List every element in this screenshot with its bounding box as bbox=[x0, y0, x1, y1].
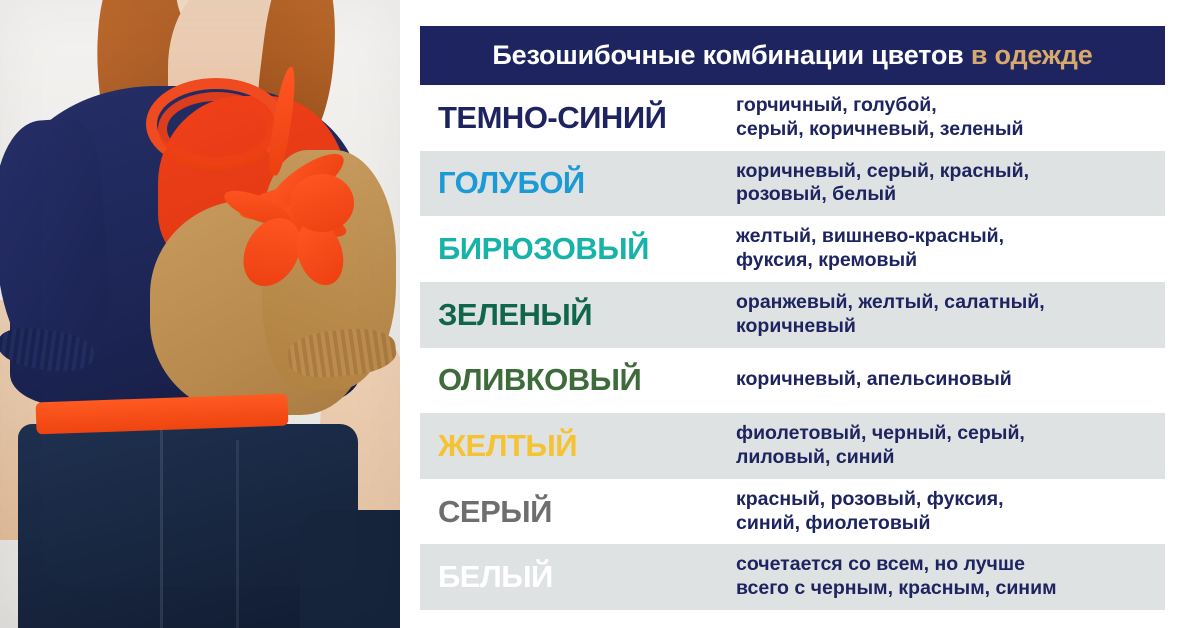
match-line: лиловый, синий bbox=[736, 446, 1157, 470]
color-name-4: ЗЕЛЕНЫЙ bbox=[420, 297, 736, 333]
color-matches-4: оранжевый, желтый, салатный,коричневый bbox=[736, 291, 1165, 339]
color-matches-7: красный, розовый, фуксия,синий, фиолетов… bbox=[736, 488, 1165, 536]
content-panel: Безошибочные комбинации цветов в одежде … bbox=[400, 0, 1200, 628]
match-line: фиолетовый, черный, серый, bbox=[736, 422, 1157, 446]
color-name-1: ТЕМНО-СИНИЙ bbox=[420, 100, 736, 136]
match-line: розовый, белый bbox=[736, 183, 1157, 207]
match-line: желтый, вишнево-красный, bbox=[736, 225, 1157, 249]
page-title-main: Безошибочные комбинации цветов bbox=[492, 40, 963, 70]
page-title: Безошибочные комбинации цветов в одежде bbox=[492, 40, 1092, 71]
header-bar: Безошибочные комбинации цветов в одежде bbox=[420, 26, 1165, 85]
table-row: СЕРЫЙкрасный, розовый, фуксия,синий, фио… bbox=[420, 479, 1165, 545]
color-matches-5: коричневый, апельсиновый bbox=[736, 368, 1165, 392]
color-name-3: БИРЮЗОВЫЙ bbox=[420, 231, 736, 267]
match-line: горчичный, голубой, bbox=[736, 94, 1157, 118]
model-photo bbox=[0, 0, 400, 628]
color-name-8: БЕЛЫЙ bbox=[420, 559, 736, 595]
color-name-7: СЕРЫЙ bbox=[420, 494, 736, 530]
table-row: ТЕМНО-СИНИЙгорчичный, голубой,серый, кор… bbox=[420, 85, 1165, 151]
match-line: фуксия, кремовый bbox=[736, 249, 1157, 273]
color-matches-8: сочетается со всем, но лучшевсего с черн… bbox=[736, 553, 1165, 601]
color-matches-1: горчичный, голубой,серый, коричневый, зе… bbox=[736, 94, 1165, 142]
match-line: сочетается со всем, но лучше bbox=[736, 553, 1157, 577]
match-line: коричневый bbox=[736, 315, 1157, 339]
table-row: БЕЛЫЙсочетается со всем, но лучшевсего с… bbox=[420, 544, 1165, 610]
match-line: оранжевый, желтый, салатный, bbox=[736, 291, 1157, 315]
color-matches-6: фиолетовый, черный, серый,лиловый, синий bbox=[736, 422, 1165, 470]
match-line: всего с черным, красным, синим bbox=[736, 577, 1157, 601]
color-name-2: ГОЛУБОЙ bbox=[420, 165, 736, 201]
table-row: ЖЕЛТЫЙфиолетовый, черный, серый,лиловый,… bbox=[420, 413, 1165, 479]
color-name-5: ОЛИВКОВЫЙ bbox=[420, 362, 736, 398]
photo-vignette bbox=[0, 0, 400, 628]
match-line: синий, фиолетовый bbox=[736, 512, 1157, 536]
match-line: красный, розовый, фуксия, bbox=[736, 488, 1157, 512]
match-line: коричневый, серый, красный, bbox=[736, 160, 1157, 184]
color-matches-3: желтый, вишнево-красный,фуксия, кремовый bbox=[736, 225, 1165, 273]
table-row: ГОЛУБОЙкоричневый, серый, красный,розовы… bbox=[420, 151, 1165, 217]
match-line: коричневый, апельсиновый bbox=[736, 368, 1157, 392]
table-row: ОЛИВКОВЫЙкоричневый, апельсиновый bbox=[420, 348, 1165, 414]
table-row: БИРЮЗОВЫЙжелтый, вишнево-красный,фуксия,… bbox=[420, 216, 1165, 282]
infographic-root: Безошибочные комбинации цветов в одежде … bbox=[0, 0, 1200, 628]
color-name-6: ЖЕЛТЫЙ bbox=[420, 428, 736, 464]
color-combination-table: ТЕМНО-СИНИЙгорчичный, голубой,серый, кор… bbox=[420, 85, 1165, 610]
color-matches-2: коричневый, серый, красный,розовый, белы… bbox=[736, 160, 1165, 208]
match-line: серый, коричневый, зеленый bbox=[736, 118, 1157, 142]
table-row: ЗЕЛЕНЫЙоранжевый, желтый, салатный,корич… bbox=[420, 282, 1165, 348]
page-title-accent: в одежде bbox=[971, 40, 1093, 70]
